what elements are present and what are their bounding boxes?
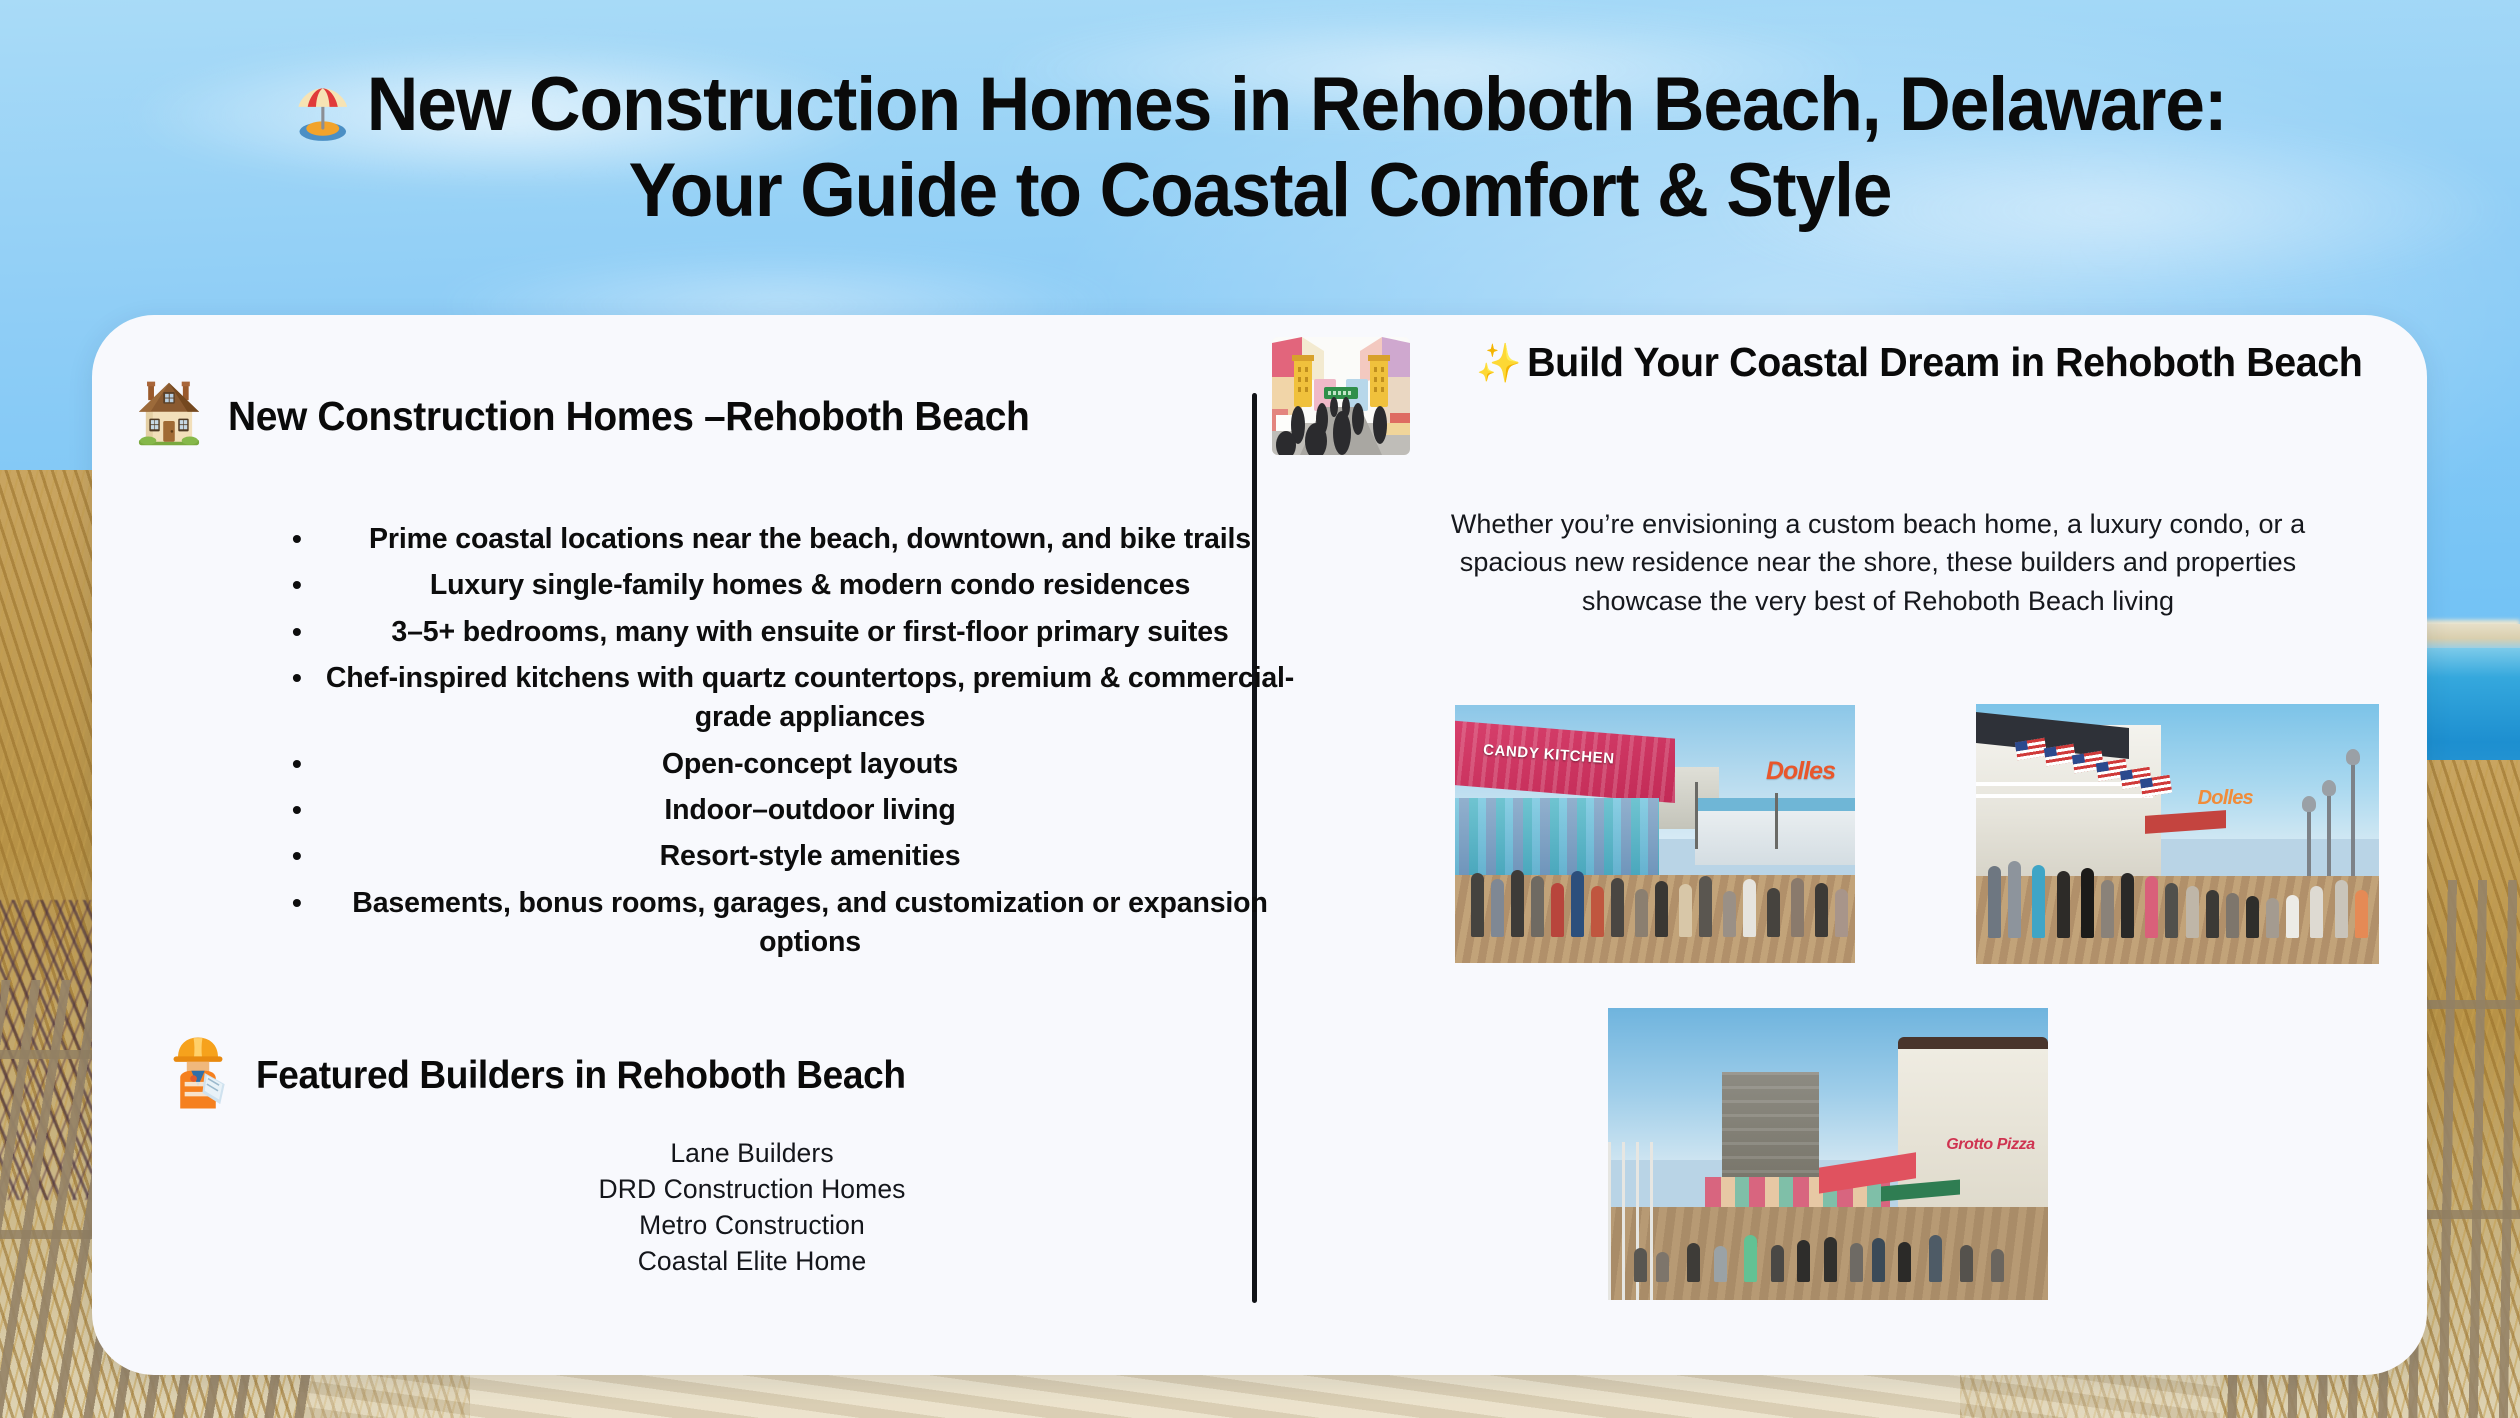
- right-column-paragraph: Whether you’re envisioning a custom beac…: [1448, 505, 2308, 620]
- list-item: Indoor–outdoor living: [292, 791, 1302, 830]
- left-column-heading: New Construction Homes –Rehoboth Beach: [92, 377, 1072, 456]
- list-item: Basements, bonus rooms, garages, and cus…: [292, 884, 1302, 963]
- sparkles-icon: ✨: [1476, 343, 1521, 385]
- photo-boardwalk-grotto-pizza: Grotto Pizza: [1608, 1008, 2048, 1300]
- dolles-sign-text: Dolles: [1766, 757, 1835, 786]
- grotto-pizza-sign-text: Grotto Pizza: [1946, 1136, 2035, 1154]
- crowd: [1455, 855, 1855, 938]
- list-item: Chef-inspired kitchens with quartz count…: [292, 659, 1302, 738]
- photo-boardwalk-candy-kitchen: Dolles CANDY KITCHEN: [1455, 705, 1855, 963]
- builders-heading-text: Featured Builders in Rehoboth Beach: [256, 1054, 906, 1098]
- right-heading-text: ✨Build Your Coastal Dream in Rehoboth Be…: [1456, 337, 2403, 389]
- house-icon: [132, 377, 206, 456]
- dolles-sign-text: Dolles: [2198, 787, 2253, 810]
- parasol-on-ground-icon: [293, 76, 355, 142]
- photo-boardwalk-flags: Dolles: [1976, 704, 2379, 964]
- list-item: Prime coastal locations near the beach, …: [292, 520, 1302, 559]
- left-heading-text: New Construction Homes –Rehoboth Beach: [228, 393, 1029, 440]
- features-list: Prime coastal locations near the beach, …: [292, 520, 1302, 969]
- list-item: Coastal Elite Home: [292, 1243, 1212, 1279]
- page-title: New Construction Homes in Rehoboth Beach…: [0, 62, 2520, 234]
- list-item: Luxury single-family homes & modern cond…: [292, 566, 1302, 605]
- featured-builders-heading: Featured Builders in Rehoboth Beach: [122, 1033, 940, 1118]
- title-line-1: New Construction Homes in Rehoboth Beach…: [160, 62, 2360, 148]
- infographic-canvas: New Construction Homes in Rehoboth Beach…: [0, 0, 2520, 1418]
- list-item: Resort-style amenities: [292, 837, 1302, 876]
- builders-list: Lane Builders DRD Construction Homes Met…: [292, 1135, 1212, 1279]
- left-column: New Construction Homes –Rehoboth Beach P…: [92, 315, 1252, 1375]
- content-card: New Construction Homes –Rehoboth Beach P…: [92, 315, 2427, 1375]
- list-item: Metro Construction: [292, 1207, 1212, 1243]
- list-item: Lane Builders: [292, 1135, 1212, 1171]
- list-item: DRD Construction Homes: [292, 1171, 1212, 1207]
- right-column: ✨Build Your Coastal Dream in Rehoboth Be…: [1252, 315, 2427, 1375]
- right-column-heading: ✨Build Your Coastal Dream in Rehoboth Be…: [1272, 337, 2422, 455]
- right-heading-label: Build Your Coastal Dream in Rehoboth Bea…: [1527, 339, 2362, 385]
- list-item: Open-concept layouts: [292, 745, 1302, 784]
- title-line-2: Your Guide to Coastal Comfort & Style: [160, 148, 2360, 234]
- construction-worker-icon: [162, 1033, 234, 1118]
- shopping-street-icon: [1272, 337, 1410, 455]
- list-item: 3–5+ bedrooms, many with ensuite or firs…: [292, 613, 1302, 652]
